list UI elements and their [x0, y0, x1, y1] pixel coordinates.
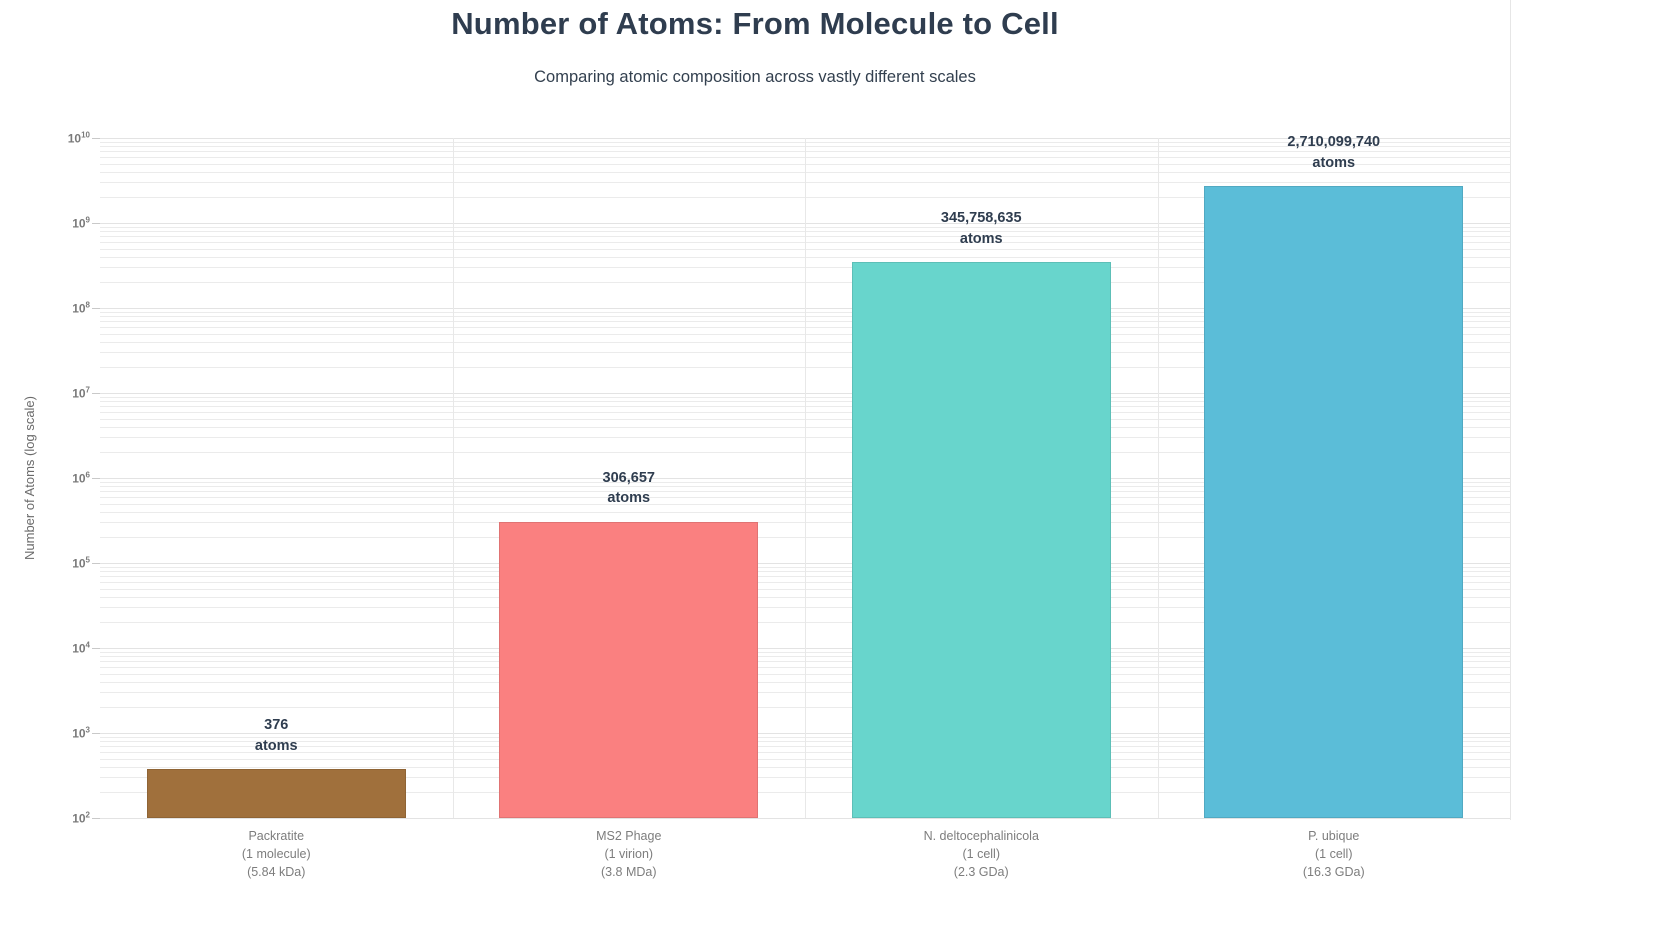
bar-value-label: 345,758,635atoms: [805, 208, 1158, 249]
y-tick-mark: [92, 818, 100, 819]
x-tick-label-line-1: Packratite: [100, 828, 453, 846]
bar-value-label: 306,657atoms: [453, 468, 806, 509]
x-tick-label-line-3: (3.8 MDa): [453, 864, 806, 882]
page-title: Number of Atoms: From Molecule to Cell: [0, 6, 1510, 42]
y-tick-label: 104: [72, 641, 90, 656]
x-tick-label-line-1: P. ubique: [1158, 828, 1511, 846]
y-tick-mark: [92, 223, 100, 224]
chart-subtitle: Comparing atomic composition across vast…: [0, 68, 1510, 87]
bar[interactable]: [852, 262, 1111, 818]
x-tick-label-line-1: N. deltocephalinicola: [805, 828, 1158, 846]
x-tick-label-line-2: (1 cell): [805, 846, 1158, 864]
bar-value-unit: atoms: [805, 229, 1158, 250]
bar-value-number: 376: [100, 715, 453, 736]
gridline-major: [100, 818, 1510, 819]
x-tick-label-line-3: (16.3 GDa): [1158, 864, 1511, 882]
y-tick-label: 103: [72, 726, 90, 741]
y-tick-label: 102: [72, 811, 90, 826]
x-tick-label: Packratite(1 molecule)(5.84 kDa): [100, 828, 453, 881]
bar-value-label: 2,710,099,740atoms: [1158, 132, 1511, 173]
y-tick-mark: [92, 138, 100, 139]
bar-value-number: 306,657: [453, 468, 806, 489]
y-tick-label: 109: [72, 216, 90, 231]
y-tick-label: 108: [72, 301, 90, 316]
y-tick-mark: [92, 648, 100, 649]
bar[interactable]: [499, 522, 758, 818]
x-tick-label-line-3: (5.84 kDa): [100, 864, 453, 882]
bar-value-number: 345,758,635: [805, 208, 1158, 229]
x-tick-label-line-2: (1 molecule): [100, 846, 453, 864]
bar-value-unit: atoms: [453, 488, 806, 509]
y-axis-title: Number of Atoms (log scale): [22, 396, 37, 560]
bar-value-unit: atoms: [1158, 153, 1511, 174]
y-tick-label: 106: [72, 471, 90, 486]
plot-right-border: [1510, 0, 1511, 820]
chart-figure: Number of Atoms: From Molecule to Cell C…: [0, 0, 1668, 952]
x-tick-label-line-1: MS2 Phage: [453, 828, 806, 846]
bar-value-number: 2,710,099,740: [1158, 132, 1511, 153]
y-tick-label: 105: [72, 556, 90, 571]
x-tick-label-line-2: (1 cell): [1158, 846, 1511, 864]
y-tick-mark: [92, 393, 100, 394]
x-tick-label-line-2: (1 virion): [453, 846, 806, 864]
x-tick-label: MS2 Phage(1 virion)(3.8 MDa): [453, 828, 806, 881]
y-tick-mark: [92, 563, 100, 564]
x-tick-label: N. deltocephalinicola(1 cell)(2.3 GDa): [805, 828, 1158, 881]
x-tick-label-line-3: (2.3 GDa): [805, 864, 1158, 882]
y-tick-label: 1010: [68, 131, 90, 146]
y-tick-mark: [92, 733, 100, 734]
y-tick-label: 107: [72, 386, 90, 401]
bar[interactable]: [1204, 186, 1463, 818]
category-separator: [1158, 138, 1159, 818]
bar-value-label: 376atoms: [100, 715, 453, 756]
bar-value-unit: atoms: [100, 736, 453, 757]
bar[interactable]: [147, 769, 406, 818]
y-tick-mark: [92, 308, 100, 309]
plot-area: 376atoms306,657atoms345,758,635atoms2,71…: [100, 138, 1510, 818]
x-tick-label: P. ubique(1 cell)(16.3 GDa): [1158, 828, 1511, 881]
y-tick-mark: [92, 478, 100, 479]
